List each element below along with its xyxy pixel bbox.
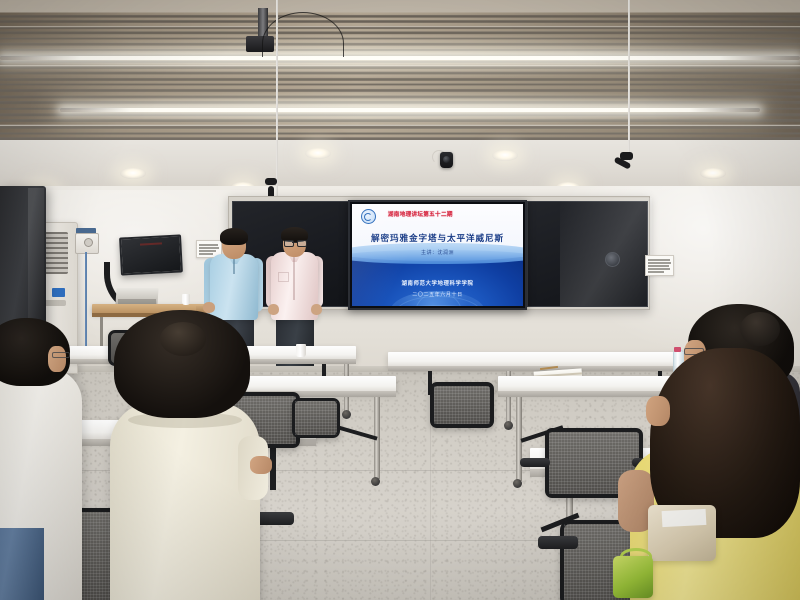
recessed-downlight [305, 148, 331, 159]
hanging-microphone-rod-right [628, 0, 630, 168]
microphone-mount-left [265, 178, 277, 185]
desk-caster [513, 479, 522, 488]
camera-lens-icon [443, 156, 450, 163]
recessed-downlight [492, 150, 518, 161]
podium-monitor[interactable] [119, 234, 183, 275]
attendee-face [48, 346, 66, 372]
wall-panel-cable [85, 252, 87, 352]
paper-cup[interactable] [296, 344, 306, 357]
presenter-placket [293, 256, 295, 300]
chair-armrest [520, 458, 550, 467]
attendee-hair-bun [160, 322, 206, 356]
desk-caster [371, 477, 380, 486]
papers-in-bag [662, 509, 707, 527]
linear-led-strip-lower [60, 108, 760, 112]
slide-presenter: 主讲：沈润洲 [352, 249, 523, 256]
paper-cup[interactable] [182, 294, 190, 305]
eyeglasses-icon [284, 240, 305, 245]
attendee-torso-cream-blouse [110, 402, 260, 600]
slide-organization: 湖南师范大学地理科学学院 [352, 279, 523, 287]
desk-edge [388, 366, 688, 371]
university-emblem-icon [361, 209, 376, 224]
eyeglasses-icon [52, 352, 70, 358]
green-tote-bag[interactable] [613, 556, 653, 598]
presenter-shirt-pocket [278, 272, 289, 282]
lecture-room-photograph: 湖南地理讲坛第五十二期 解密玛雅金字塔与太平洋威尼斯 主讲：沈润洲 湖南师范大学… [0, 0, 800, 600]
presentation-screen[interactable]: 湖南地理讲坛第五十二期 解密玛雅金字塔与太平洋威尼斯 主讲：沈润洲 湖南师范大学… [348, 200, 527, 310]
posted-notice-right-wall [645, 255, 674, 276]
chair-back-far[interactable] [292, 398, 340, 438]
microphone-mount-right [620, 152, 633, 160]
presenter-hand [268, 304, 279, 315]
wood-slat-ceiling [0, 0, 800, 152]
recessed-downlight [120, 168, 146, 179]
desk-back-right [388, 352, 688, 367]
desk-caster [342, 410, 351, 419]
ceiling-slats [0, 12, 800, 152]
wall-panel-knob-icon[interactable] [84, 238, 93, 247]
chair-armrest [538, 536, 578, 549]
presenter-hand [311, 304, 322, 315]
presenter-hair [220, 228, 248, 245]
bottle-cap [674, 347, 681, 352]
slide-date: 二〇二五年六月十日 [352, 291, 523, 298]
presentation-slide: 湖南地理讲坛第五十二期 解密玛雅金字塔与太平洋威尼斯 主讲：沈润洲 湖南师范大学… [352, 204, 523, 306]
cabinet-glare [28, 188, 44, 334]
attendee-hair-bun [740, 312, 780, 346]
presenter-hand [203, 302, 215, 313]
attendee-face [646, 396, 670, 426]
presenter-placket [233, 258, 235, 274]
desk-caster [504, 421, 513, 430]
linear-led-strip-upper [0, 56, 800, 60]
recessed-downlight [700, 168, 726, 179]
blackboard-panel-right [527, 201, 648, 307]
air-conditioner-label [52, 288, 65, 297]
chair-back-mid[interactable] [430, 382, 494, 428]
hanging-microphone-rod-left [276, 0, 278, 196]
attendee-hand [250, 456, 272, 474]
wall-clock-icon [605, 252, 620, 267]
attendee-jeans [0, 528, 44, 600]
slide-title: 解密玛雅金字塔与太平洋威尼斯 [352, 232, 523, 244]
slide-banner-text: 湖南地理讲坛第五十二期 [388, 210, 453, 218]
